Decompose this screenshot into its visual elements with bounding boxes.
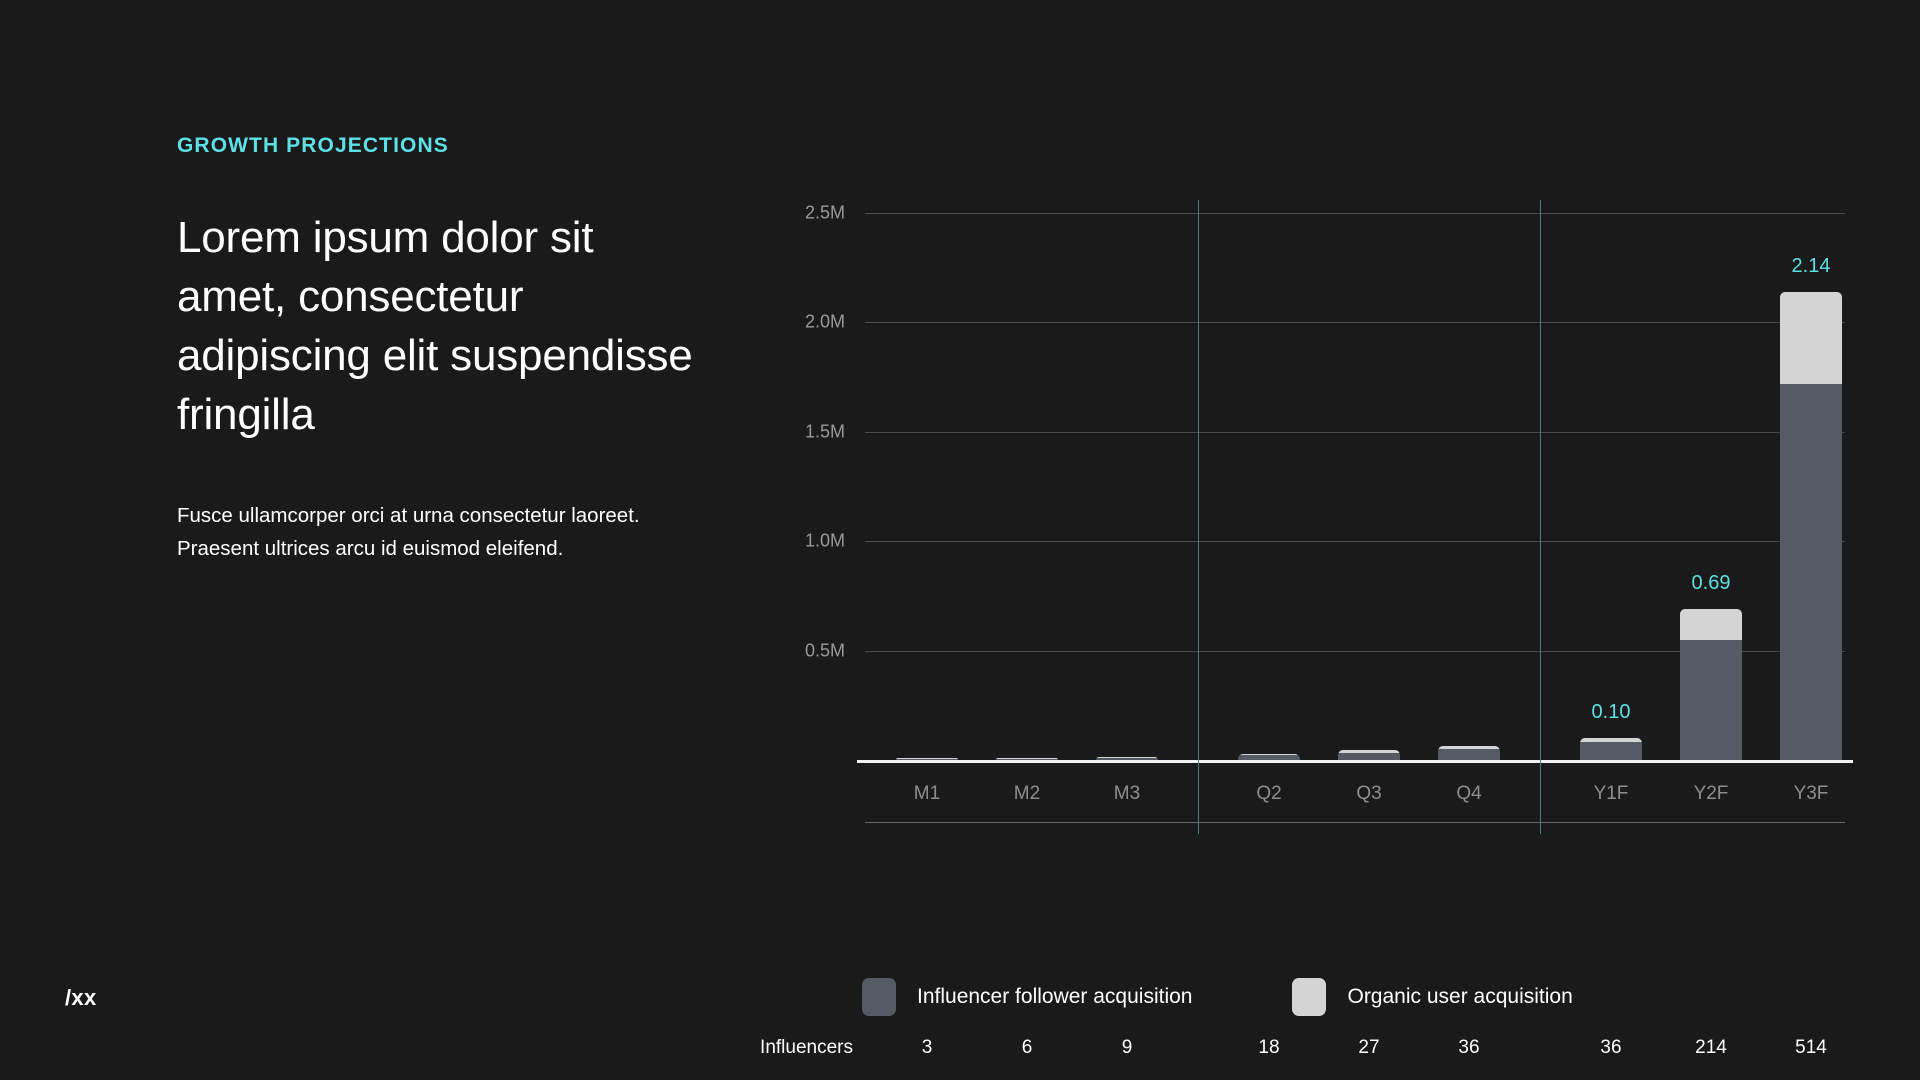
x-tick-label: Q4 [1456, 783, 1481, 805]
legend-item-influencer: Influencer follower acquisition [862, 978, 1192, 1016]
plot-area: 0.5M1.0M1.5M2.0M2.5M 0.100.692.14 [865, 213, 1845, 760]
chart-legend: Influencer follower acquisition Organic … [862, 978, 1573, 1016]
gridline [865, 432, 1845, 433]
legend-swatch-influencer-icon [862, 978, 896, 1016]
bar-value-label: 2.14 [1792, 255, 1831, 278]
bar-stack[interactable] [1580, 738, 1642, 760]
bar-segment-influencer[interactable] [1338, 753, 1400, 760]
body-paragraph: Fusce ullamcorper orci at urna consectet… [177, 499, 657, 565]
annotation-value: 6 [1022, 1037, 1033, 1059]
legend-label-organic: Organic user acquisition [1347, 985, 1572, 1009]
x-tick-label: Y3F [1794, 783, 1829, 805]
bar-value-label: 0.69 [1692, 572, 1731, 595]
bar-value-label: 0.10 [1592, 701, 1631, 724]
x-tick-label: M2 [1014, 783, 1040, 805]
eyebrow-label: GROWTH PROJECTIONS [177, 135, 697, 156]
x-tick-label: Y2F [1694, 783, 1729, 805]
bar-stack[interactable] [1438, 746, 1500, 760]
bar-segment-organic[interactable] [1680, 609, 1742, 640]
slide-root: GROWTH PROJECTIONS Lorem ipsum dolor sit… [0, 0, 1920, 1080]
group-separator-line-extension [1540, 735, 1541, 834]
annotation-value: 514 [1795, 1037, 1827, 1059]
annotation-value: 9 [1122, 1037, 1133, 1059]
legend-label-influencer: Influencer follower acquisition [917, 985, 1192, 1009]
gridline [865, 322, 1845, 323]
x-tick-label: M1 [914, 783, 940, 805]
bar-segment-influencer[interactable] [1780, 384, 1842, 760]
bar-segment-influencer[interactable] [1438, 749, 1500, 760]
y-tick-label: 0.5M [805, 640, 845, 661]
legend-item-organic: Organic user acquisition [1292, 978, 1572, 1016]
bar-segment-organic[interactable] [1780, 292, 1842, 384]
annotation-value: 36 [1458, 1037, 1479, 1059]
gridline [865, 541, 1845, 542]
x-tick-label: M3 [1114, 783, 1140, 805]
legend-swatch-organic-icon [1292, 978, 1326, 1016]
bar-stack[interactable] [1338, 750, 1400, 760]
group-separator-line-extension [1198, 735, 1199, 834]
annotation-value: 36 [1600, 1037, 1621, 1059]
page-number: /xx [65, 985, 96, 1011]
annotation-value: 27 [1358, 1037, 1379, 1059]
y-tick-label: 1.5M [805, 421, 845, 442]
y-tick-label: 2.0M [805, 312, 845, 333]
stacked-bar-chart: 0.5M1.0M1.5M2.0M2.5M 0.100.692.14 M1M2M3… [713, 185, 1853, 905]
group-separator-line [1540, 200, 1541, 763]
group-separator-line [1198, 200, 1199, 763]
page-title: Lorem ipsum dolor sit amet, consectetur … [177, 209, 697, 445]
annotation-value: 18 [1258, 1037, 1279, 1059]
annotation-divider [865, 822, 1845, 823]
bar-segment-influencer[interactable] [1580, 742, 1642, 760]
annotation-row-label: Influencers [713, 1037, 853, 1059]
y-tick-label: 2.5M [805, 203, 845, 224]
x-tick-label: Y1F [1594, 783, 1629, 805]
annotation-value: 3 [922, 1037, 933, 1059]
x-tick-label: Q3 [1356, 783, 1381, 805]
gridline [865, 213, 1845, 214]
bar-segment-influencer[interactable] [1680, 640, 1742, 760]
y-tick-label: 1.0M [805, 531, 845, 552]
bar-stack[interactable] [1680, 609, 1742, 760]
x-tick-label: Q2 [1256, 783, 1281, 805]
x-axis-baseline [857, 760, 1853, 763]
annotation-value: 214 [1695, 1037, 1727, 1059]
bar-stack[interactable] [1780, 292, 1842, 760]
left-text-column: GROWTH PROJECTIONS Lorem ipsum dolor sit… [177, 135, 697, 565]
